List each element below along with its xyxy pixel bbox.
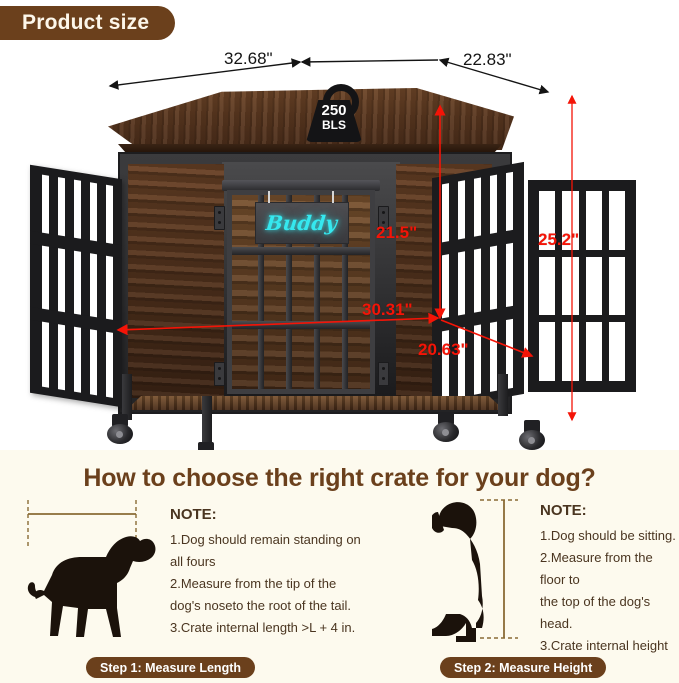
- weight-capacity-unit: BLS: [306, 118, 362, 133]
- infographic-page: Product size: [0, 0, 679, 683]
- step-1-label: Step 1: Measure Length: [100, 661, 241, 675]
- guide-title: How to choose the right crate for your d…: [0, 450, 679, 493]
- height-note-line: 3.Crate internal height: [540, 635, 679, 657]
- length-note-block: NOTE: 1.Dog should remain standing on al…: [170, 506, 370, 639]
- crate-bottom-shelf: [126, 396, 504, 410]
- step-2-badge: Step 2: Measure Height: [440, 657, 606, 678]
- step-1-badge: Step 1: Measure Length: [86, 657, 255, 678]
- crate-door-right-outer: [528, 180, 636, 392]
- length-note-heading: NOTE:: [170, 506, 370, 523]
- gate-hinge: [214, 362, 225, 386]
- dimension-label-interior-depth: 20.63": [418, 340, 469, 360]
- caster-wheel: [518, 420, 546, 450]
- dimension-label-depth: 22.83": [463, 50, 512, 70]
- sitting-dog-diagram: [432, 490, 542, 652]
- gate-horizontal-rail: [232, 247, 370, 255]
- dimension-label-overall-height: 25.2": [538, 230, 579, 250]
- buddy-nameplate-text: Buddy: [265, 211, 339, 235]
- height-note-line: 2.Measure from the floor to: [540, 547, 679, 591]
- caster-wheel: [106, 414, 134, 444]
- height-note-block: NOTE: 1.Dog should be sitting. 2.Measure…: [540, 502, 679, 679]
- product-size-badge: Product size: [0, 6, 175, 40]
- length-note-line: dog's noseto the root of the tail.: [170, 595, 370, 617]
- dimension-label-interior-length: 30.31": [362, 300, 413, 320]
- step-2-label: Step 2: Measure Height: [454, 661, 592, 675]
- weight-capacity-value: 250: [306, 103, 362, 118]
- weight-capacity-badge: 250 BLS: [306, 90, 362, 142]
- crate-selection-guide: How to choose the right crate for your d…: [0, 450, 679, 683]
- gate-hinge: [214, 206, 225, 230]
- dimension-label-interior-height: 21.5": [376, 223, 417, 243]
- crate-leg: [498, 374, 508, 416]
- gate-horizontal-rail: [232, 321, 370, 329]
- standing-dog-diagram: [18, 496, 168, 651]
- height-note-heading: NOTE:: [540, 502, 679, 519]
- buddy-nameplate: Buddy: [255, 202, 349, 244]
- length-note-line: 3.Crate internal length >L + 4 in.: [170, 617, 370, 639]
- height-note-line: the top of the dog's head.: [540, 591, 679, 635]
- crate-door-left: [30, 165, 122, 408]
- length-note-line: 2.Measure from the tip of the: [170, 573, 370, 595]
- crate-side-panel-left: [128, 164, 224, 398]
- gate-hinge: [378, 362, 389, 386]
- crate-leg: [202, 396, 212, 448]
- product-size-badge-label: Product size: [22, 11, 149, 35]
- crate-door-right-inner: [432, 162, 524, 410]
- caster-wheel: [432, 412, 460, 442]
- dimension-label-width: 32.68": [224, 49, 273, 69]
- length-note-line: 1.Dog should remain standing on all four…: [170, 529, 370, 573]
- height-note-line: 1.Dog should be sitting.: [540, 525, 679, 547]
